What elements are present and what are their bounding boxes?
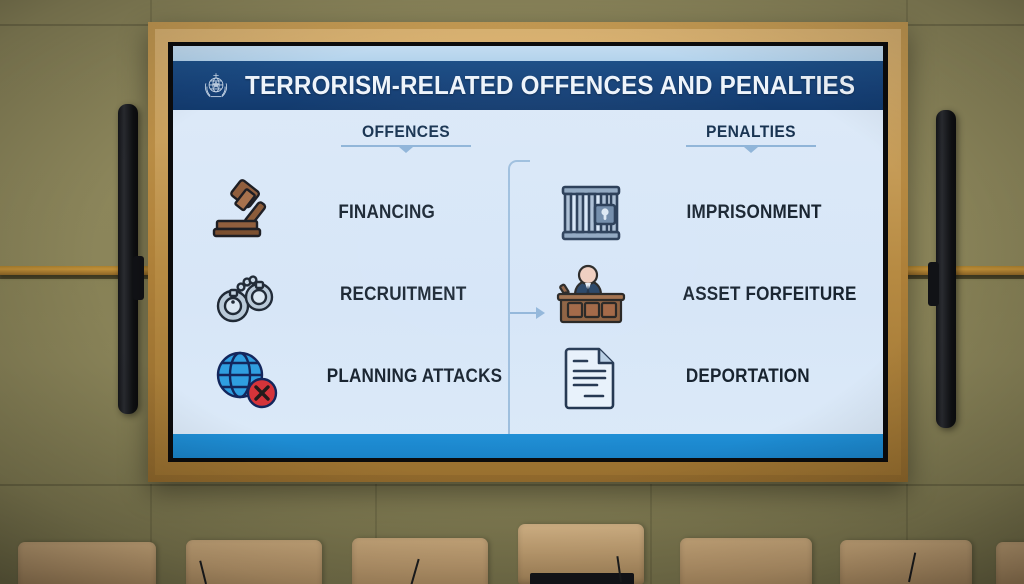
conference-chair <box>352 538 488 584</box>
presentation-slide: TERRORISM-RELATED OFFENCES AND PENALTIES… <box>173 46 883 458</box>
slide-title-bar: TERRORISM-RELATED OFFENCES AND PENALTIES <box>173 61 883 110</box>
wall-trim-right <box>906 266 1024 275</box>
slide-body: OFFENCES PENALTIES <box>173 110 883 434</box>
handcuffs-icon <box>209 259 281 331</box>
connector-arrow-line <box>510 312 538 314</box>
conference-chair <box>186 540 322 584</box>
list-item-label: DEPORTATION <box>686 366 810 388</box>
wall-speaker-left-mount <box>133 256 144 300</box>
wall-speaker-right <box>936 110 956 428</box>
list-item-label: FINANCING <box>338 202 435 224</box>
wall-trim-shadow-right <box>906 275 1024 279</box>
chevron-down-icon <box>399 147 413 153</box>
list-item-label: ASSET FORFEITURE <box>683 284 857 306</box>
gavel-icon <box>209 177 281 249</box>
connector-bracket <box>508 160 530 458</box>
slide-footer-bar <box>173 434 883 458</box>
wall-seam-lower <box>0 484 1024 486</box>
chevron-down-icon <box>744 147 758 153</box>
slide-title: TERRORISM-RELATED OFFENCES AND PENALTIES <box>245 70 855 101</box>
projection-screen-frame: TERRORISM-RELATED OFFENCES AND PENALTIES… <box>148 22 908 482</box>
conference-chair <box>18 542 156 584</box>
list-item-label: PLANNING ATTACKS <box>327 366 502 388</box>
screenshot-stage: TERRORISM-RELATED OFFENCES AND PENALTIES… <box>0 0 1024 584</box>
column-heading-offences: OFFENCES <box>341 122 471 153</box>
column-heading-penalties-label: PENALTIES <box>691 122 811 142</box>
who-globe-laurel-emblem <box>199 69 233 103</box>
arrow-right-icon <box>536 307 545 319</box>
list-item: ASSET FORFEITURE <box>555 250 883 340</box>
list-item-label: IMPRISONMENT <box>687 202 822 224</box>
conference-chair <box>840 540 972 584</box>
list-item: RECRUITMENT <box>209 250 539 340</box>
wall-speaker-right-mount <box>928 262 939 306</box>
list-item: PLANNING ATTACKS <box>209 332 539 422</box>
column-heading-offences-label: OFFENCES <box>346 122 466 142</box>
wall-vseam-mid-right <box>650 484 652 584</box>
list-item: FINANCING <box>209 168 539 258</box>
column-heading-penalties: PENALTIES <box>686 122 816 153</box>
document-icon <box>555 341 627 413</box>
globe-blocked-icon <box>209 341 281 413</box>
slide-top-strip <box>173 46 883 61</box>
list-item: IMPRISONMENT <box>555 168 883 258</box>
list-item: DEPORTATION <box>555 332 883 422</box>
list-item-label: RECRUITMENT <box>340 284 466 306</box>
judge-bench-icon <box>555 259 627 331</box>
jail-cell-icon <box>555 177 627 249</box>
conference-chair <box>996 542 1024 584</box>
conference-chair <box>680 538 812 584</box>
